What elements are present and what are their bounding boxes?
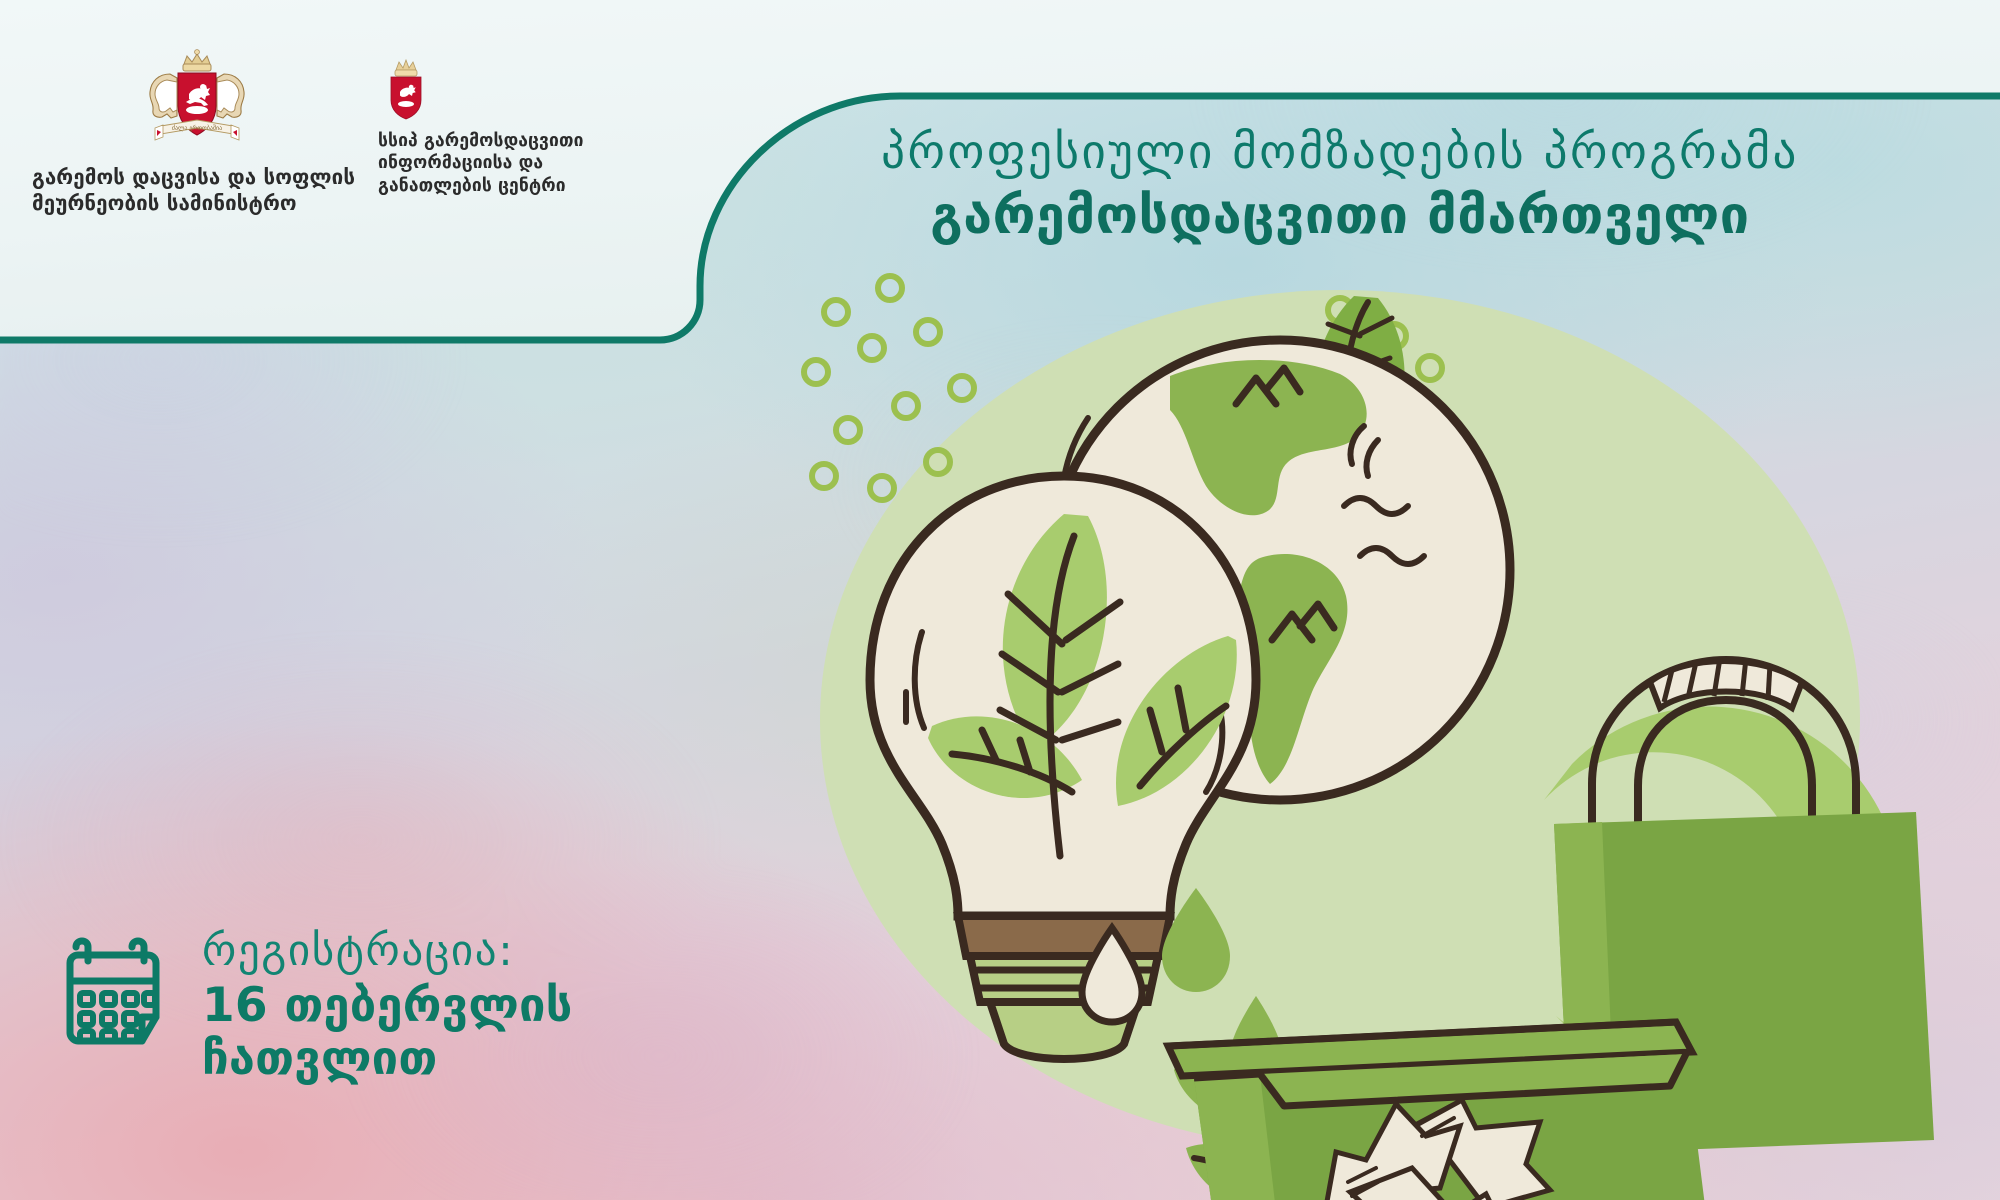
poster-canvas: ძალა ერთობაშია გარემოს დაცვისა და სოფლის…	[0, 0, 2000, 1200]
center-logo-line3: განათლების ცენტრი	[378, 175, 648, 197]
registration-text: რეგისტრაცია: 16 თებერვლის ჩათვლით	[202, 925, 573, 1085]
center-logo: სსიპ გარემოსდაცვითი ინფორმაციისა და განა…	[378, 58, 648, 197]
svg-text:ძალა ერთობაშია: ძალა ერთობაშია	[172, 125, 222, 132]
center-logo-text: სსიპ გარემოსდაცვითი ინფორმაციისა და განა…	[378, 130, 648, 197]
registration-date-line2: ჩათვლით	[202, 1033, 573, 1086]
georgia-shield-crown-icon	[378, 58, 434, 120]
dots-cluster-left	[804, 276, 974, 500]
registration-label: რეგისტრაცია:	[202, 929, 573, 974]
logo-group: ძალა ერთობაშია გარემოს დაცვისა და სოფლის…	[0, 0, 700, 270]
ministry-logo-line2: მეურნეობის სამინისტრო	[32, 190, 362, 216]
center-logo-line2: ინფორმაციისა და	[378, 152, 648, 174]
ministry-logo-line1: გარემოს დაცვისა და სოფლის	[32, 164, 362, 190]
program-title: პროფესიული მომზადების პროგრამა	[700, 128, 1980, 178]
center-logo-line1: სსიპ გარემოსდაცვითი	[378, 130, 648, 152]
program-subtitle: გარემოსდაცვითი მმართველი	[700, 188, 1980, 245]
georgia-coat-of-arms-icon: ძალა ერთობაშია	[137, 48, 257, 148]
recycle-bin-icon	[1168, 1022, 1718, 1200]
ministry-logo: ძალა ერთობაშია გარემოს დაცვისა და სოფლის…	[32, 48, 362, 216]
calendar-icon	[52, 937, 174, 1059]
ministry-logo-text: გარემოს დაცვისა და სოფლის მეურნეობის სამ…	[32, 164, 362, 216]
eco-illustration	[700, 240, 2000, 1200]
header-titles: პროფესიული მომზადების პროგრამა გარემოსდა…	[700, 128, 1980, 245]
registration-date-line1: 16 თებერვლის	[202, 980, 573, 1033]
registration-block: რეგისტრაცია: 16 თებერვლის ჩათვლით	[52, 925, 573, 1085]
